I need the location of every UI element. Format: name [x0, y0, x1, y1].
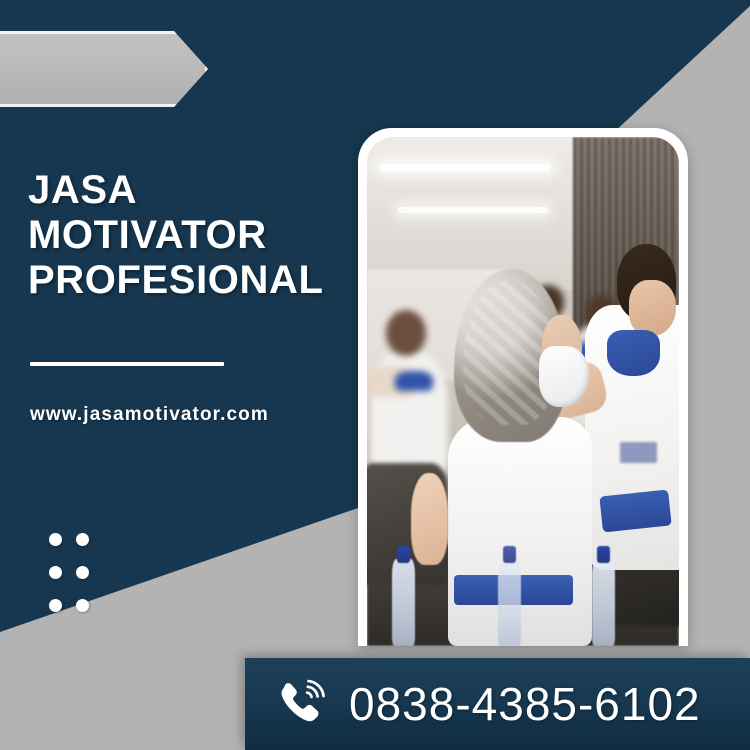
photo-frame: [358, 128, 688, 646]
title-line-3: PROFESIONAL: [28, 258, 358, 303]
title-line-1: JASA: [28, 168, 358, 213]
dot-grid-decoration: [49, 533, 89, 612]
dot: [49, 566, 62, 579]
photo-water-bottle: [498, 559, 521, 646]
title-line-2: MOTIVATOR: [28, 213, 358, 258]
arrow-banner-shape: [0, 31, 208, 107]
arrow-banner-fill: [0, 34, 205, 104]
phone-ringing-icon: [273, 677, 327, 731]
photo-foreground-man-collar: [607, 330, 660, 376]
dot: [76, 566, 89, 579]
phone-number-text: 0838-4385-6102: [349, 677, 701, 731]
training-session-photo: [367, 137, 679, 646]
photo-foreground-man-face: [629, 280, 676, 336]
dot: [76, 599, 89, 612]
dot: [49, 599, 62, 612]
photo-water-bottle: [592, 559, 615, 646]
promotional-banner: JASA MOTIVATOR PROFESIONAL www.jasamotiv…: [0, 0, 750, 750]
dot: [76, 533, 89, 546]
contact-phone-bar[interactable]: 0838-4385-6102: [245, 658, 750, 750]
photo-water-bottle: [392, 559, 415, 646]
website-url: www.jasamotivator.com: [30, 404, 269, 426]
photo-foreground-man-cuff: [599, 490, 671, 533]
dot: [49, 533, 62, 546]
photo-participant-head: [386, 310, 427, 356]
title-divider: [30, 362, 224, 366]
photo-uniform-logo: [620, 442, 657, 462]
photo-woman-hand: [411, 473, 448, 565]
photo-uniform-trim: [395, 371, 432, 391]
page-title: JASA MOTIVATOR PROFESIONAL: [28, 168, 358, 302]
